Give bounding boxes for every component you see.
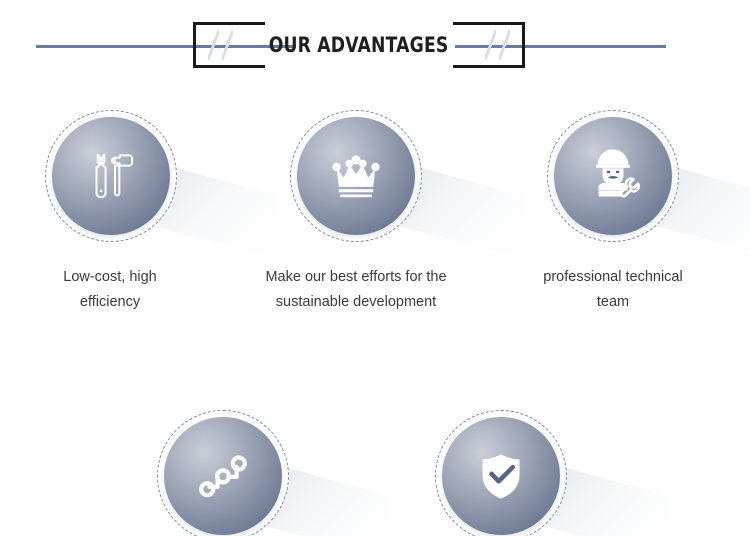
badge-disc bbox=[164, 417, 282, 535]
section-title: OUR ADVANTAGES bbox=[193, 22, 525, 68]
crown-icon bbox=[327, 147, 385, 205]
advantage-card-grid: Low-cost, high efficiency bbox=[0, 92, 750, 536]
slash-decoration-right-icon bbox=[485, 29, 510, 61]
shield-check-icon bbox=[472, 447, 530, 505]
badge-disc bbox=[554, 117, 672, 235]
badge[interactable] bbox=[435, 410, 567, 536]
network-nodes-icon bbox=[194, 447, 252, 505]
badge[interactable] bbox=[157, 410, 289, 536]
worker-wrench-icon bbox=[584, 147, 642, 205]
section-header: OUR ADVANTAGES bbox=[0, 0, 750, 92]
title-frame: OUR ADVANTAGES bbox=[193, 22, 525, 68]
badge[interactable] bbox=[290, 110, 422, 242]
advantage-card-label: professional technical team bbox=[502, 265, 724, 315]
badge-disc bbox=[297, 117, 415, 235]
advantage-card-label: Low-cost, high efficiency bbox=[0, 265, 220, 315]
slash-decoration-left-icon bbox=[208, 29, 233, 61]
badge[interactable] bbox=[547, 110, 679, 242]
advantages-section: OUR ADVANTAGES bbox=[0, 0, 750, 536]
badge-disc bbox=[52, 117, 170, 235]
badge[interactable] bbox=[45, 110, 177, 242]
wrench-hammer-icon bbox=[82, 147, 140, 205]
page-title: OUR ADVANTAGES bbox=[269, 33, 449, 57]
badge-disc bbox=[442, 417, 560, 535]
advantage-card-label: Make our best efforts for the sustainabl… bbox=[225, 265, 487, 315]
